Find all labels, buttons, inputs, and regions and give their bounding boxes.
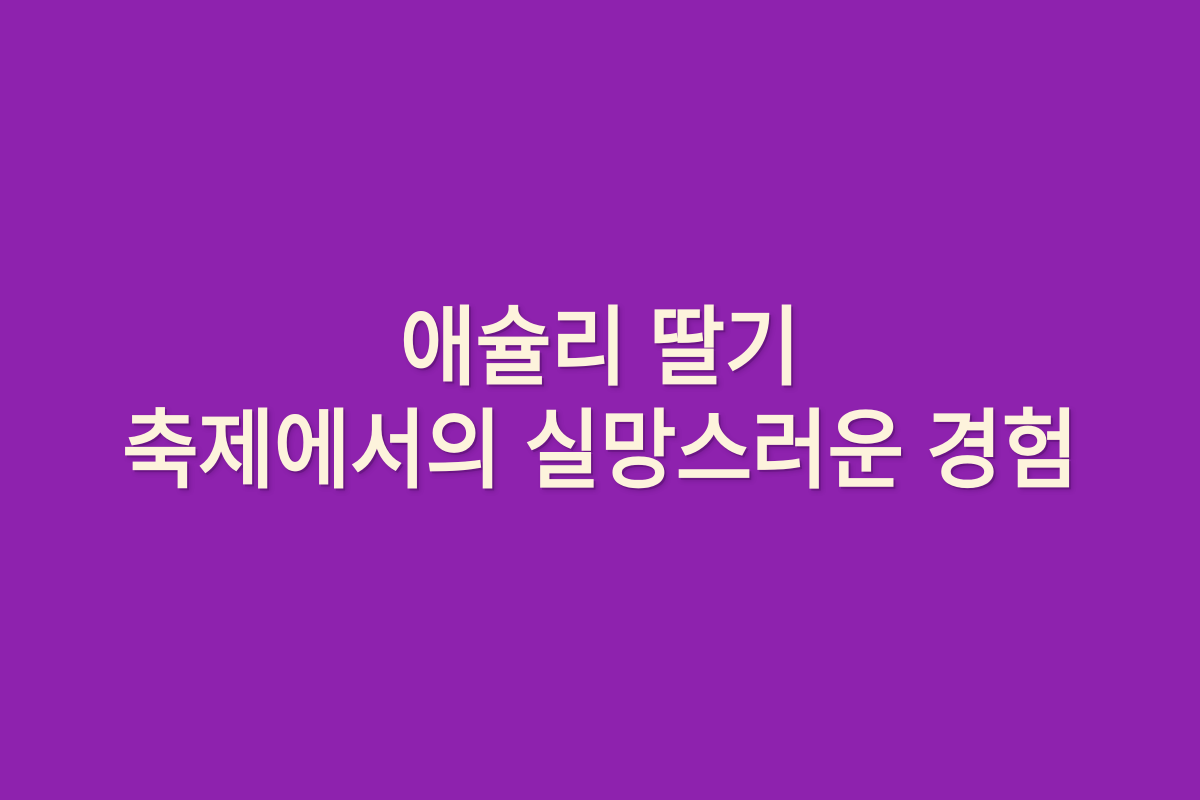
text-banner: 애슐리 딸기 축제에서의 실망스러운 경험: [0, 0, 1200, 800]
page-title: 애슐리 딸기 축제에서의 실망스러운 경험: [10, 297, 1190, 503]
title-line-2: 축제에서의 실망스러운 경험: [31, 400, 1170, 503]
title-line-1: 애슐리 딸기: [34, 297, 1167, 400]
